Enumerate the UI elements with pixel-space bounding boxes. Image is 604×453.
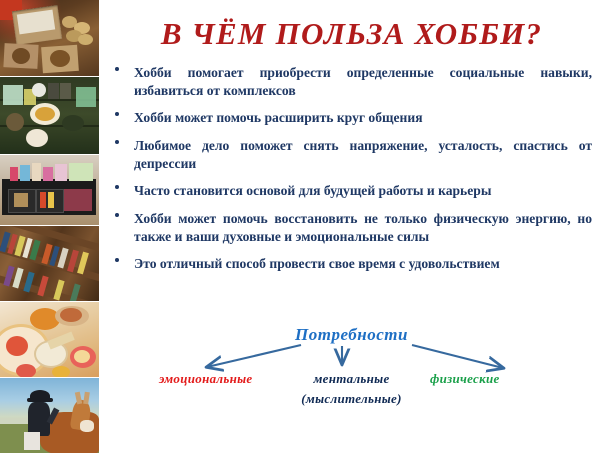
benefits-bullet-list: Хобби помогает приобрести определенные с…	[112, 64, 592, 273]
bookshelf-photo	[0, 226, 99, 302]
bullet-dot-icon	[115, 112, 119, 116]
list-item: Хобби помогает приобрести определенные с…	[112, 64, 592, 99]
list-item-text: Хобби может помочь расширить круг общени…	[134, 110, 423, 125]
diagram-root-label: Потребности	[99, 326, 604, 343]
photo-strip	[0, 0, 99, 453]
painted-ceramics-photo	[0, 302, 99, 378]
list-item: Хобби может помочь расширить круг общени…	[112, 109, 592, 127]
list-item-text: Хобби помогает приобрести определенные с…	[134, 65, 592, 98]
bullet-dot-icon	[115, 140, 119, 144]
diagram-branch-mental: ментальные	[99, 372, 604, 385]
list-item-text: Это отличный способ провести свое время …	[134, 256, 500, 271]
bullet-dot-icon	[115, 185, 119, 189]
diagram-branch-mental-sublabel: (мыслительные)	[99, 392, 604, 405]
list-item-text: Хобби может помочь восстановить не тольк…	[134, 211, 592, 244]
arrow-to-physical	[412, 345, 503, 368]
list-item: Это отличный способ провести свое время …	[112, 255, 592, 273]
bullet-dot-icon	[115, 258, 119, 262]
coin-collection-photo-detail	[0, 0, 99, 76]
list-item-text: Любимое дело поможет снять напряжение, у…	[134, 138, 592, 171]
list-item-text: Часто становится основой для будущей раб…	[134, 183, 491, 198]
craft-supplies-box-photo	[0, 155, 99, 225]
horseback-riding-photo-detail	[0, 378, 99, 453]
list-item: Хобби может помочь восстановить не тольк…	[112, 210, 592, 245]
craft-supplies-box-photo-detail	[0, 155, 99, 224]
list-item: Любимое дело поможет снять напряжение, у…	[112, 137, 592, 172]
needs-diagram: Потребности эмоциональные ментальные (мы…	[99, 318, 604, 438]
bullet-dot-icon	[115, 213, 119, 217]
arrow-to-emotional	[207, 345, 301, 367]
horseback-riding-photo	[0, 378, 99, 453]
presentation-slide: В ЧЁМ ПОЛЬЗА ХОББИ? Хобби помогает приоб…	[0, 0, 604, 453]
page-title: В ЧЁМ ПОЛЬЗА ХОББИ?	[99, 18, 604, 49]
list-item: Часто становится основой для будущей раб…	[112, 182, 592, 200]
painted-ceramics-photo-detail	[0, 302, 99, 377]
glass-bottles-photo-detail	[0, 77, 99, 154]
coin-collection-photo	[0, 0, 99, 77]
slide-content: В ЧЁМ ПОЛЬЗА ХОББИ? Хобби помогает приоб…	[99, 0, 604, 453]
diagram-branch-physical: физические	[430, 372, 500, 385]
bookshelf-photo-detail	[0, 226, 99, 301]
bullet-dot-icon	[115, 67, 119, 71]
glass-bottles-photo	[0, 77, 99, 155]
